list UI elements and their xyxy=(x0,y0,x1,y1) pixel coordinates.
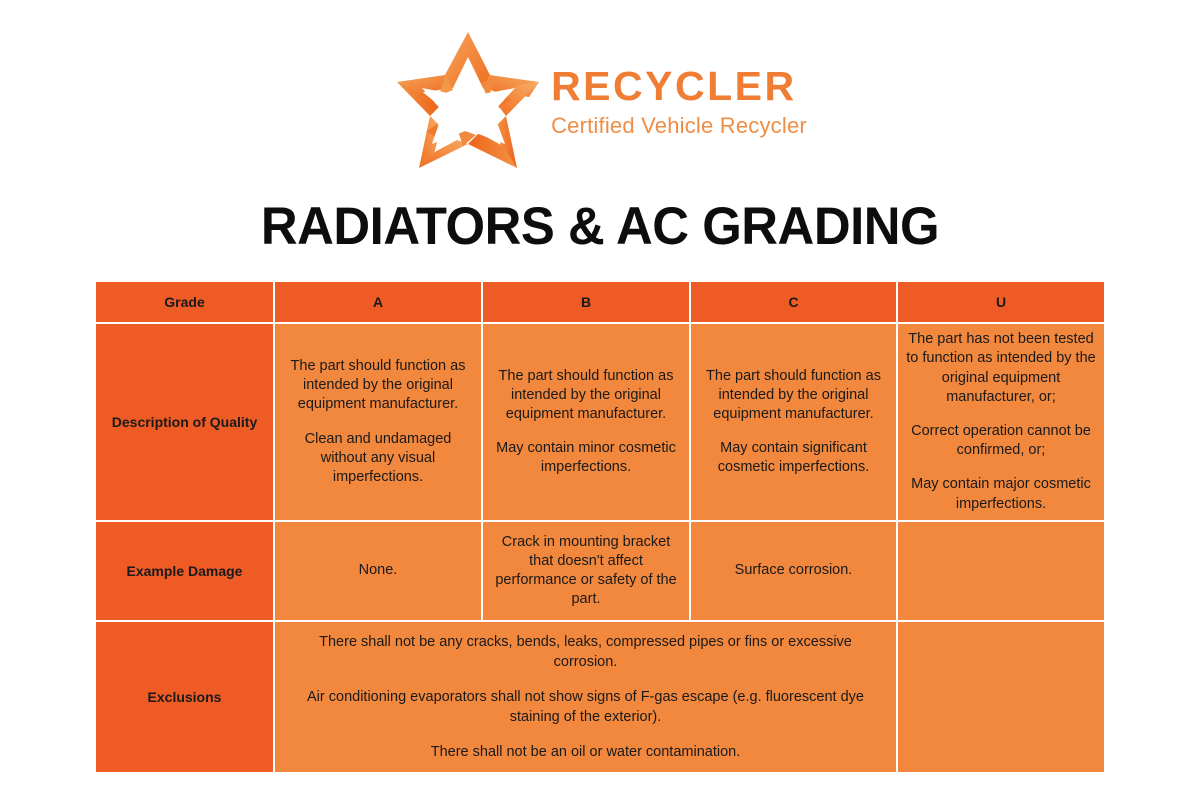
column-header-u: U xyxy=(897,281,1105,323)
grading-sheet-page: RECYCLER Certified Vehicle Recycler RADI… xyxy=(0,0,1200,800)
cell-description-u-para-1: The part has not been tested to function… xyxy=(906,330,1096,407)
brand-name: RECYCLER xyxy=(551,65,807,108)
cell-exclusions-para-1: There shall not be any cracks, bends, le… xyxy=(289,632,882,672)
column-header-c: C xyxy=(690,281,897,323)
column-header-grade: Grade xyxy=(95,281,274,323)
table-row-description-of-quality: Description of Quality The part should f… xyxy=(95,323,1105,521)
cell-example-c-para-1: Surface corrosion. xyxy=(699,561,888,580)
cell-description-c-para-1: The part should function as intended by … xyxy=(699,367,888,424)
brand-logo-block: RECYCLER Certified Vehicle Recycler xyxy=(0,28,1200,176)
grading-table: Grade A B C U Description of Quality The… xyxy=(95,281,1105,773)
row-label-description-of-quality: Description of Quality xyxy=(95,323,274,521)
cell-example-a-para-1: None. xyxy=(283,561,473,580)
recycling-star-logo-icon xyxy=(393,28,543,176)
cell-example-b: Crack in mounting bracket that doesn't a… xyxy=(482,521,690,621)
cell-example-a: None. xyxy=(274,521,482,621)
cell-description-u-para-2: Correct operation cannot be confirmed, o… xyxy=(906,422,1096,460)
cell-description-a: The part should function as intended by … xyxy=(274,323,482,521)
cell-example-u xyxy=(897,521,1105,621)
page-title: RADIATORS & AC GRADING xyxy=(24,196,1176,257)
table-row-example-damage: Example Damage None. Crack in mounting b… xyxy=(95,521,1105,621)
cell-exclusions-u xyxy=(897,621,1105,773)
table-row-exclusions: Exclusions There shall not be any cracks… xyxy=(95,621,1105,773)
cell-exclusions-para-2: Air conditioning evaporators shall not s… xyxy=(289,687,882,727)
cell-description-b-para-2: May contain minor cosmetic imperfections… xyxy=(491,439,681,477)
cell-description-a-para-1: The part should function as intended by … xyxy=(283,357,473,414)
cell-exclusions-para-3: There shall not be an oil or water conta… xyxy=(289,742,882,762)
cell-description-b-para-1: The part should function as intended by … xyxy=(491,367,681,424)
brand-tagline: Certified Vehicle Recycler xyxy=(551,114,807,138)
table-header-row: Grade A B C U xyxy=(95,281,1105,323)
row-label-example-damage: Example Damage xyxy=(95,521,274,621)
cell-description-b: The part should function as intended by … xyxy=(482,323,690,521)
cell-description-c-para-2: May contain significant cosmetic imperfe… xyxy=(699,439,888,477)
cell-description-a-para-2: Clean and undamaged without any visual i… xyxy=(283,430,473,487)
cell-description-c: The part should function as intended by … xyxy=(690,323,897,521)
table-body: Description of Quality The part should f… xyxy=(95,323,1105,773)
cell-example-c: Surface corrosion. xyxy=(690,521,897,621)
cell-example-b-para-1: Crack in mounting bracket that doesn't a… xyxy=(491,533,681,610)
column-header-a: A xyxy=(274,281,482,323)
table-header: Grade A B C U xyxy=(95,281,1105,323)
column-header-b: B xyxy=(482,281,690,323)
row-label-exclusions: Exclusions xyxy=(95,621,274,773)
cell-description-u: The part has not been tested to function… xyxy=(897,323,1105,521)
cell-exclusions-span: There shall not be any cracks, bends, le… xyxy=(274,621,897,773)
cell-description-u-para-3: May contain major cosmetic imperfections… xyxy=(906,475,1096,513)
